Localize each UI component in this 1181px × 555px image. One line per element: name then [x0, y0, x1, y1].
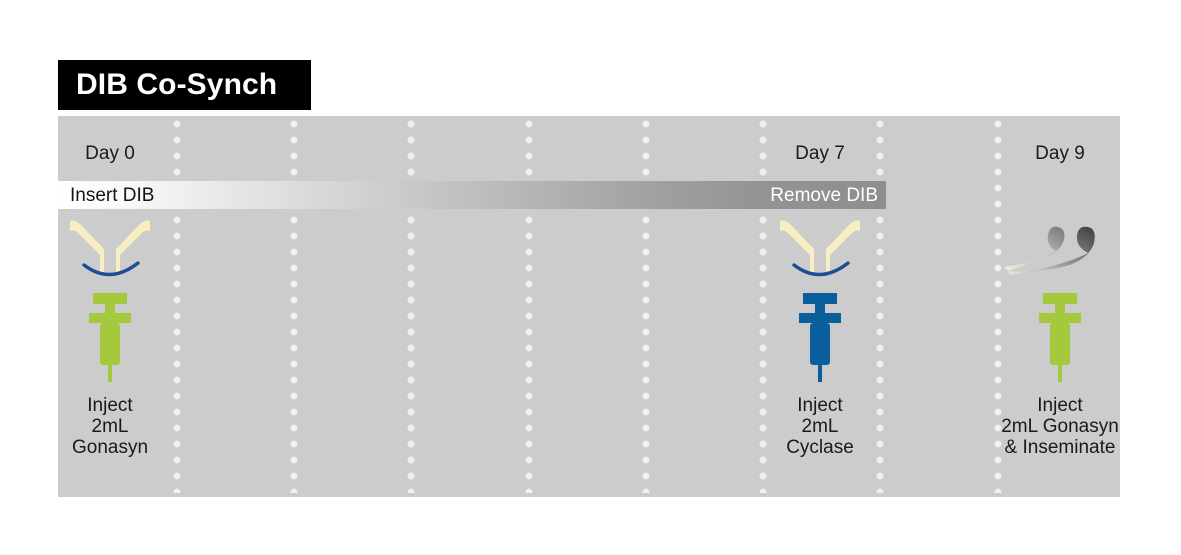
event-caption-day-0: Inject 2mL Gonasyn: [30, 395, 190, 458]
syringe-green-icon: [980, 291, 1140, 383]
caption-line: Gonasyn: [30, 437, 190, 458]
day-label-0: Day 0: [50, 141, 170, 167]
event-column-day-9: Inject 2mL Gonasyn & Inseminate: [980, 215, 1140, 458]
day-label-9: Day 9: [1000, 141, 1120, 167]
syringe-blue-icon: [740, 291, 900, 383]
caption-line: Cyclase: [740, 437, 900, 458]
remove-dib-label: Remove DIB: [770, 186, 878, 205]
column-divider: [290, 120, 298, 493]
caption-line: 2mL: [740, 416, 900, 437]
page-title: DIB Co-Synch: [76, 70, 277, 100]
infographic-root: DIB Co-Synch Day 0 Day 7 Day 9 Insert DI…: [0, 0, 1181, 555]
event-caption-day-9: Inject 2mL Gonasyn & Inseminate: [980, 395, 1140, 458]
event-column-day-7: Inject 2mL Cyclase: [740, 215, 900, 458]
caption-line: Inject: [740, 395, 900, 416]
sperm-icon: [980, 215, 1140, 283]
day-label-7: Day 7: [760, 141, 880, 167]
event-column-day-0: Inject 2mL Gonasyn: [30, 215, 190, 458]
event-caption-day-7: Inject 2mL Cyclase: [740, 395, 900, 458]
dib-device-icon: [740, 215, 900, 283]
syringe-green-icon: [30, 291, 190, 383]
dib-device-icon: [30, 215, 190, 283]
dib-duration-bar: Insert DIB Remove DIB: [58, 181, 886, 209]
column-divider: [525, 120, 533, 493]
caption-line: Inject: [980, 395, 1140, 416]
insert-dib-label: Insert DIB: [70, 186, 154, 205]
column-divider: [407, 120, 415, 493]
title-banner: DIB Co-Synch: [58, 60, 311, 110]
caption-line: & Inseminate: [980, 437, 1140, 458]
caption-line: 2mL: [30, 416, 190, 437]
column-divider: [642, 120, 650, 493]
timeline-panel: [58, 116, 1120, 497]
caption-line: Inject: [30, 395, 190, 416]
caption-line: 2mL Gonasyn: [980, 416, 1140, 437]
